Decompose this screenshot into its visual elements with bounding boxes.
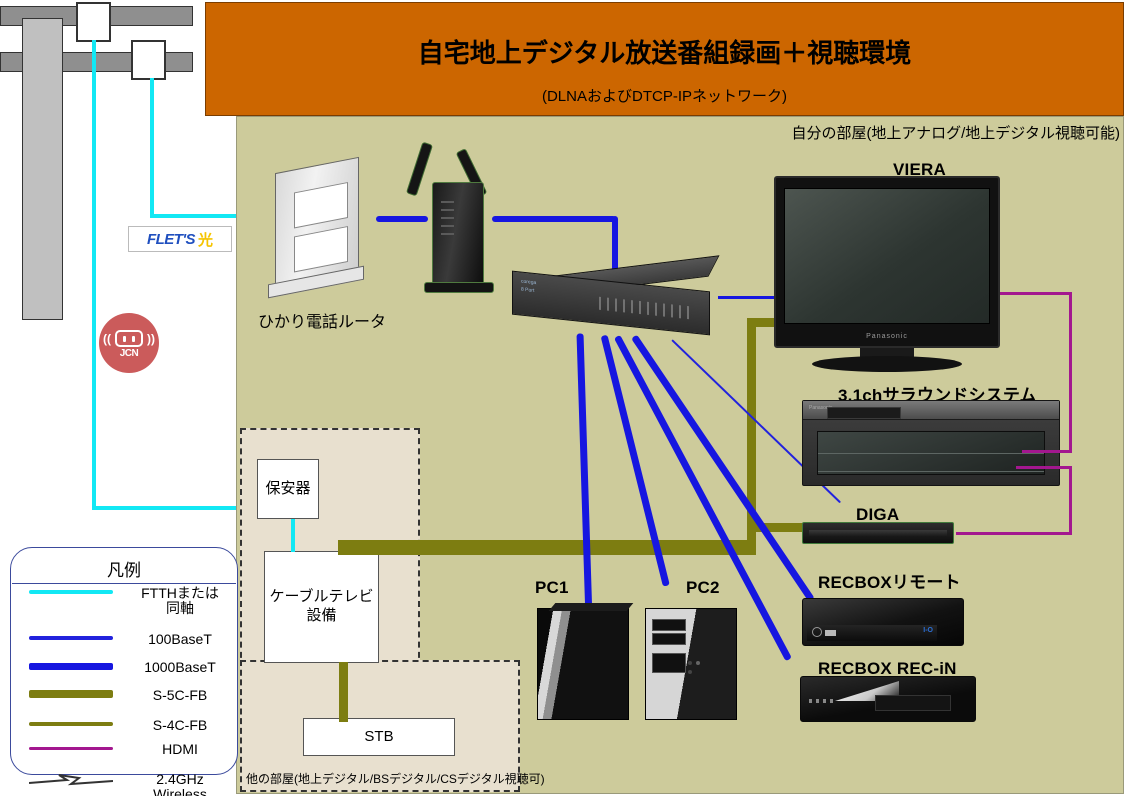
legend-label: S-5C-FB [121, 688, 239, 703]
legend-swatch [29, 663, 113, 670]
pole-box-lower [131, 40, 166, 80]
viera-tv[interactable]: Panasonic [774, 176, 1000, 348]
legend-swatch [29, 747, 113, 750]
diagram-canvas: 自宅地上デジタル放送番組録画＋視聴環境 (DLNAおよびDTCP-IPネットワー… [0, 0, 1126, 796]
pole-box-upper [76, 2, 111, 42]
own-room-label: 自分の部屋(地上アナログ/地上デジタル視聴可能) [791, 122, 1120, 143]
coax-cable-to-hoanki [92, 506, 256, 510]
hdmi-surround-vertical [1069, 466, 1072, 534]
hoanki-box[interactable]: 保安器 [257, 459, 319, 519]
pc1-tower[interactable] [537, 608, 629, 720]
pc2-label: PC2 [686, 578, 720, 598]
legend-label: 1000BaseT [121, 660, 239, 675]
hdmi-tv-vertical [1069, 292, 1072, 452]
surround-display-panel [827, 407, 901, 419]
stb-box[interactable]: STB [303, 718, 455, 756]
title-banner: 自宅地上デジタル放送番組録画＋視聴環境 (DLNAおよびDTCP-IPネットワー… [205, 2, 1124, 116]
tv-brand-text: Panasonic [776, 333, 998, 340]
legend-label: 100BaseT [121, 632, 239, 647]
utility-pole [22, 18, 63, 320]
legend-label: FTTHまたは同軸 [121, 586, 239, 616]
hikari-phone-router-label: ひかり電話ルータ [258, 308, 386, 332]
pc1-label: PC1 [535, 578, 569, 598]
flets-hikari-logo: FLET'S 光 [128, 226, 232, 252]
recbox-recin[interactable] [800, 676, 976, 722]
recbox-usb-port [825, 630, 836, 636]
catv-label-line1: ケーブルテレビ [269, 588, 373, 607]
cable-onu-to-router [376, 216, 428, 222]
legend-title: 凡例 [11, 556, 237, 581]
jcn-logo: (( )) JCN [99, 313, 159, 373]
jcn-robot-icon [115, 330, 143, 347]
recbox-remote[interactable]: I-O [802, 598, 964, 646]
legend-divider [12, 583, 236, 584]
tv-stand-foot [812, 356, 962, 372]
switch-brand-text: corega8 Port [521, 279, 536, 296]
banner-subtitle: (DLNAおよびDTCP-IPネットワーク) [206, 85, 1123, 106]
hoanki-label: 保安器 [265, 480, 310, 499]
hdmi-to-diga [956, 532, 1072, 535]
hdmi-to-surround [1022, 450, 1072, 453]
flets-brand-text: FLET'S [147, 231, 195, 248]
legend-label: 2.4GHzWireless [121, 772, 239, 796]
pc1-top-bevel [549, 603, 634, 611]
legend-label: S-4C-FB [121, 718, 239, 733]
coax-hoanki-to-catv [291, 519, 295, 552]
tv-screen [784, 188, 990, 324]
hikari-kanji: 光 [198, 229, 213, 250]
cable-router-to-switch-h [492, 216, 616, 222]
pc2-front-buttons[interactable] [688, 661, 692, 665]
legend-label: HDMI [121, 742, 239, 757]
ftth-cable-vertical-onu [150, 78, 154, 216]
recbox-power-icon[interactable] [812, 627, 822, 637]
legend-swatch [29, 590, 113, 594]
catv-label-line2: 設備 [306, 607, 336, 626]
recbox-recin-drive-slot [875, 695, 951, 711]
legend-swatch [29, 636, 113, 640]
surround-system[interactable]: Panasonic [802, 400, 1060, 486]
legend-swatch [29, 690, 113, 698]
cable-switch-to-tv [718, 296, 776, 299]
other-room-label: 他の部屋(地上デジタル/BSデジタル/CSデジタル視聴可) [246, 770, 545, 787]
catv-equipment-box[interactable]: ケーブルテレビ 設備 [264, 551, 379, 663]
wireless-router[interactable] [432, 182, 484, 286]
legend-panel: 凡例 FTTHまたは同軸100BaseT1000BaseTS-5C-FBS-4C… [10, 547, 238, 775]
stb-label: STB [364, 728, 393, 747]
legend-swatch [29, 722, 113, 726]
hdmi-surround-bottom [1016, 466, 1072, 469]
s5cfb-catv-to-stb [339, 662, 348, 722]
diga-front-panel [809, 530, 947, 537]
wireless-lightning-icon [29, 771, 113, 789]
iodata-brand-text: I-O [923, 627, 933, 634]
wireless-router-base [424, 282, 494, 293]
diga-recorder[interactable] [802, 522, 954, 544]
recbox-remote-label: RECBOXリモート [818, 568, 961, 593]
switch-port-leds [599, 297, 693, 320]
banner-title: 自宅地上デジタル放送番組録画＋視聴環境 [206, 33, 1123, 70]
recbox-recin-leds [809, 699, 835, 703]
s4cfb-trunk-lower [338, 548, 756, 555]
hdmi-tv-top [1000, 292, 1072, 295]
pc2-tower[interactable] [645, 608, 737, 720]
jcn-text: JCN [99, 348, 159, 359]
ftth-cable-vertical-jcn [92, 40, 96, 510]
